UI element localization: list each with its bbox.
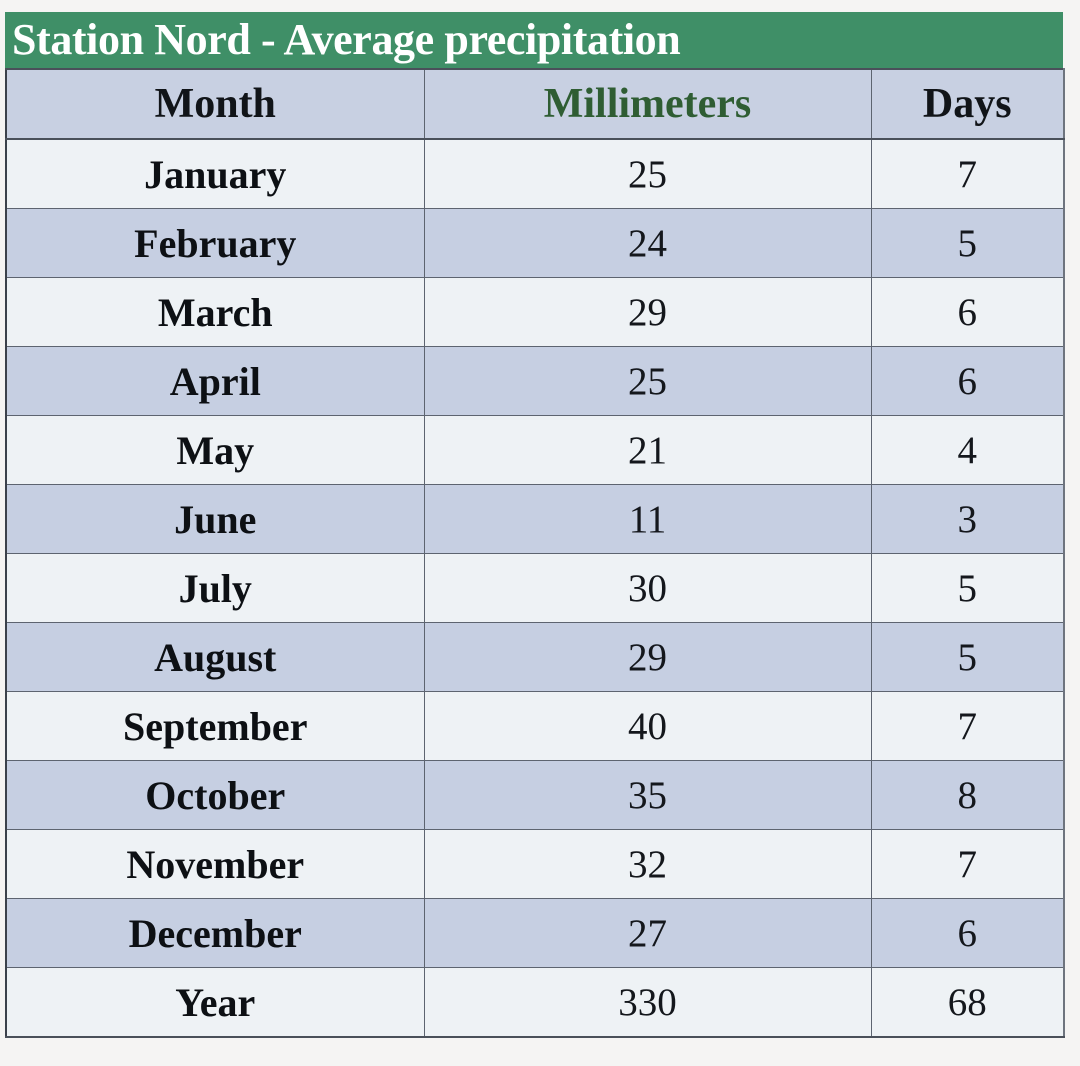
cell-millimeters: 27 [424,899,871,968]
cell-month: December [6,899,424,968]
table-row: October358 [6,761,1064,830]
cell-millimeters: 25 [424,347,871,416]
cell-millimeters: 35 [424,761,871,830]
table-row: Year33068 [6,968,1064,1038]
cell-millimeters: 21 [424,416,871,485]
cell-days: 4 [871,416,1064,485]
cell-month: May [6,416,424,485]
cell-month: March [6,278,424,347]
column-header-millimeters[interactable]: Millimeters [424,69,871,139]
cell-days: 5 [871,209,1064,278]
cell-days: 7 [871,830,1064,899]
table-row: April256 [6,347,1064,416]
precipitation-table-page: Station Nord - Average precipitation Mon… [0,0,1080,1066]
cell-days: 6 [871,899,1064,968]
cell-month: August [6,623,424,692]
cell-days: 68 [871,968,1064,1038]
table-row: July305 [6,554,1064,623]
cell-days: 3 [871,485,1064,554]
table-title-bar: Station Nord - Average precipitation [5,12,1063,68]
cell-days: 7 [871,692,1064,761]
table-row: November327 [6,830,1064,899]
cell-millimeters: 29 [424,278,871,347]
cell-month: Year [6,968,424,1038]
table-row: May214 [6,416,1064,485]
cell-millimeters: 25 [424,139,871,209]
cell-millimeters: 32 [424,830,871,899]
table-row: September407 [6,692,1064,761]
cell-month: April [6,347,424,416]
cell-millimeters: 11 [424,485,871,554]
table-row: February245 [6,209,1064,278]
cell-month: February [6,209,424,278]
precipitation-table: Month Millimeters Days January257Februar… [5,68,1065,1038]
cell-month: January [6,139,424,209]
cell-millimeters: 30 [424,554,871,623]
cell-days: 6 [871,278,1064,347]
cell-days: 7 [871,139,1064,209]
cell-month: October [6,761,424,830]
cell-millimeters: 40 [424,692,871,761]
table-body: January257February245March296April256May… [6,139,1064,1037]
table-header-row: Month Millimeters Days [6,69,1064,139]
table-header: Month Millimeters Days [6,69,1064,139]
table-row: December276 [6,899,1064,968]
table-row: June113 [6,485,1064,554]
cell-millimeters: 24 [424,209,871,278]
cell-millimeters: 29 [424,623,871,692]
cell-month: July [6,554,424,623]
page-title: Station Nord - Average precipitation [12,16,680,64]
cell-days: 6 [871,347,1064,416]
cell-month: September [6,692,424,761]
cell-days: 5 [871,623,1064,692]
cell-days: 8 [871,761,1064,830]
cell-days: 5 [871,554,1064,623]
column-header-month[interactable]: Month [6,69,424,139]
table-row: March296 [6,278,1064,347]
table-row: August295 [6,623,1064,692]
cell-month: June [6,485,424,554]
cell-millimeters: 330 [424,968,871,1038]
column-header-days[interactable]: Days [871,69,1064,139]
table-row: January257 [6,139,1064,209]
cell-month: November [6,830,424,899]
